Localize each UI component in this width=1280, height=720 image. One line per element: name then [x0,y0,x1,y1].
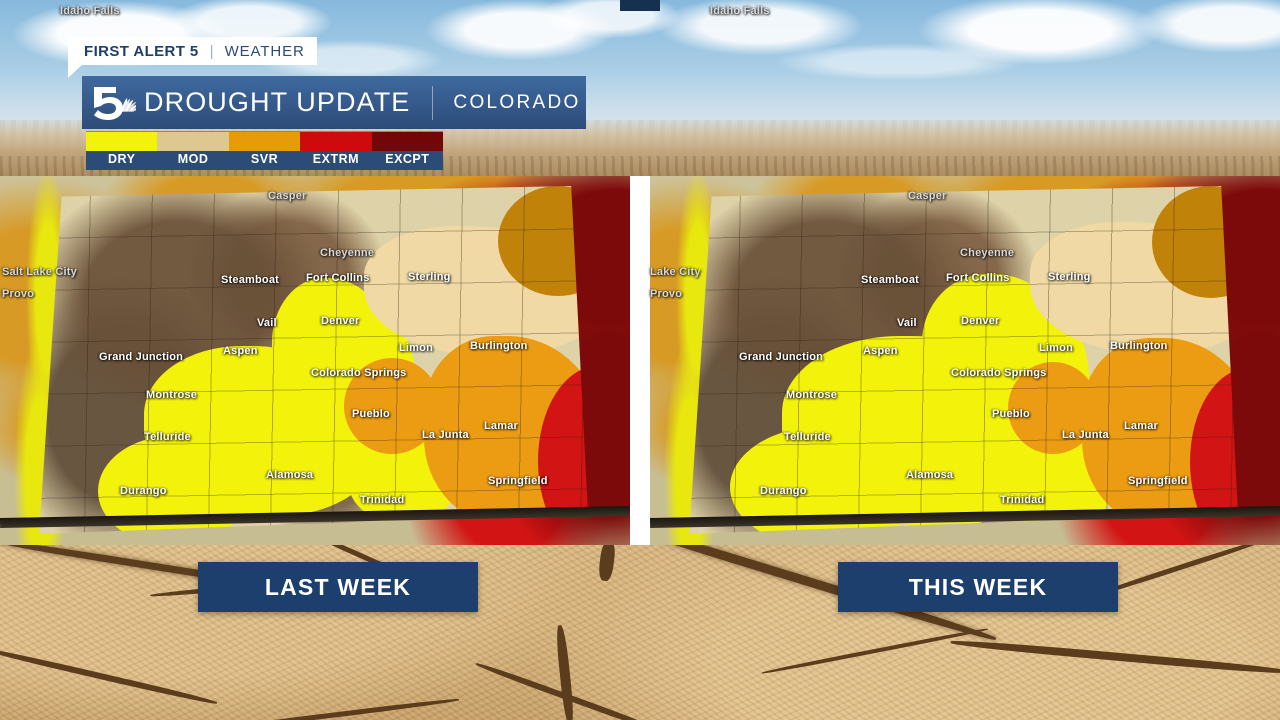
city-label-montrose: Montrose [146,389,197,401]
top-edge-marker [620,0,660,11]
legend-swatch-mod [157,132,228,151]
title-divider [432,86,433,120]
crack-line [555,625,575,720]
legend-label-extrm: EXTRM [300,151,371,170]
city-label-cheyenne: Cheyenne [960,247,1014,259]
crack-line [201,697,460,720]
crack-line [762,627,989,675]
map-divider [630,176,650,545]
city-label-denver: Denver [321,315,360,327]
city-label-telluride: Telluride [784,431,831,443]
city-label-provo: Provo [2,288,34,300]
city-label-lamar: Lamar [484,420,518,432]
city-label-grand-junction: Grand Junction [739,351,823,363]
tab-divider: | [210,43,214,60]
legend-swatches [86,132,443,151]
legend-swatch-extrm [300,132,371,151]
city-label-pueblo: Pueblo [992,408,1030,420]
city-label-colorado-springs: Colorado Springs [311,367,406,379]
city-label-idaho-falls: Idaho Falls [60,5,120,17]
first-alert-tab: FIRST ALERT 5 | WEATHER [68,37,317,65]
first-alert-label: FIRST ALERT 5 [84,43,199,60]
city-label-limon: Limon [399,342,433,354]
city-label-denver: Denver [961,315,1000,327]
city-label-steamboat: Steamboat [861,274,919,286]
city-label-montrose: Montrose [786,389,837,401]
weather-label: WEATHER [225,43,305,60]
city-label-telluride: Telluride [144,431,191,443]
city-label-pueblo: Pueblo [352,408,390,420]
legend-labels: DRYMODSVREXTRMEXCPT [86,151,443,170]
city-label-la-junta: La Junta [1062,429,1109,441]
city-label-provo: Provo [650,288,682,300]
crack-line [1094,537,1267,597]
city-label-salt-lake-city: Salt Lake City [2,266,77,278]
crack-line [950,638,1280,676]
legend-label-excpt: EXCPT [372,151,443,170]
city-label-la-junta: La Junta [422,429,469,441]
city-label-sterling: Sterling [1048,271,1091,283]
city-label-idaho-falls: Idaho Falls [710,5,770,17]
city-label-vail: Vail [257,317,277,329]
legend-label-dry: DRY [86,151,157,170]
city-label-aspen: Aspen [223,345,258,357]
city-label-durango: Durango [760,485,807,497]
city-label-fort-collins: Fort Collins [946,272,1010,284]
crack-line [598,540,617,581]
city-label-alamosa: Alamosa [266,469,313,481]
region-label: COLORADO [453,92,580,114]
city-label-burlington: Burlington [470,340,528,352]
city-label-trinidad: Trinidad [360,494,404,506]
city-label-colorado-springs: Colorado Springs [951,367,1046,379]
crack-line [0,646,218,706]
city-label-springfield: Springfield [488,475,548,487]
nbc5-peacock-logo [82,76,142,129]
city-label-aspen: Aspen [863,345,898,357]
city-label-alamosa: Alamosa [906,469,953,481]
drought-update-title-bar: DROUGHT UPDATE COLORADO [82,76,586,129]
drought-map-last-week [0,176,630,545]
city-label-sterling: Sterling [408,271,451,283]
legend-swatch-dry [86,132,157,151]
caption-last-week: LAST WEEK [198,562,478,612]
legend-swatch-svr [229,132,300,151]
city-label-casper: Casper [908,190,947,202]
city-label-durango: Durango [120,485,167,497]
caption-this-week: THIS WEEK [838,562,1118,612]
city-label-cheyenne: Cheyenne [320,247,374,259]
city-label-limon: Limon [1039,342,1073,354]
city-label-lamar: Lamar [1124,420,1158,432]
legend-swatch-excpt [372,132,443,151]
city-label-steamboat: Steamboat [221,274,279,286]
city-label-fort-collins: Fort Collins [306,272,370,284]
drought-severity-legend: DRYMODSVREXTRMEXCPT [86,131,443,170]
legend-label-mod: MOD [157,151,228,170]
city-label-burlington: Burlington [1110,340,1168,352]
page-title: DROUGHT UPDATE [144,87,410,118]
city-label-springfield: Springfield [1128,475,1188,487]
city-label-lake-city: Lake City [650,266,701,278]
city-label-grand-junction: Grand Junction [99,351,183,363]
city-label-trinidad: Trinidad [1000,494,1044,506]
city-label-casper: Casper [268,190,307,202]
city-label-vail: Vail [897,317,917,329]
legend-label-svr: SVR [229,151,300,170]
